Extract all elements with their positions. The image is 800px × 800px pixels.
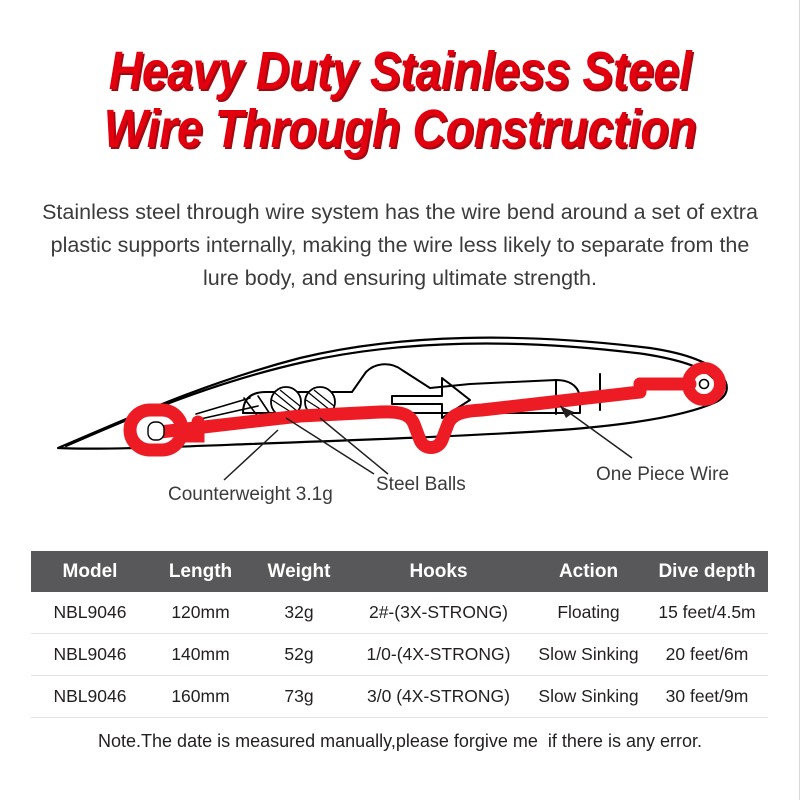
measurement-note: Note.The date is measured manually,pleas…: [0, 731, 800, 752]
cell-model: NBL9046: [31, 592, 149, 634]
table-header-row: Model Length Weight Hooks Action Dive de…: [31, 551, 768, 592]
cell-dive-depth: 15 feet/4.5m: [646, 592, 768, 634]
nose-eyelet-ring: [688, 368, 720, 400]
cell-length: 120mm: [149, 592, 252, 634]
through-wire: [160, 384, 690, 448]
callout-label-steel-balls: Steel Balls: [376, 474, 466, 496]
headline-line-2: Wire Through Construction: [56, 102, 744, 156]
cell-dive-depth: 30 feet/9m: [646, 676, 768, 718]
cell-model: NBL9046: [31, 634, 149, 676]
cell-action: Floating: [531, 592, 646, 634]
cell-hooks: 3/0 (4X-STRONG): [346, 676, 531, 718]
cell-length: 140mm: [149, 634, 252, 676]
cell-weight: 52g: [252, 634, 346, 676]
product-infographic: { "headline": { "line1": "Heavy Duty Sta…: [0, 0, 800, 800]
page-title: Heavy Duty Stainless Steel Wire Through …: [0, 44, 800, 156]
cell-hooks: 1/0-(4X-STRONG): [346, 634, 531, 676]
cell-hooks: 2#-(3X-STRONG): [346, 592, 531, 634]
cell-weight: 32g: [252, 592, 346, 634]
cell-dive-depth: 20 feet/6m: [646, 634, 768, 676]
column-header-action: Action: [531, 551, 646, 592]
cell-model: NBL9046: [31, 676, 149, 718]
cell-length: 160mm: [149, 676, 252, 718]
leader-counterweight: [224, 430, 278, 480]
column-header-length: Length: [149, 551, 252, 592]
headline-line-1: Heavy Duty Stainless Steel: [56, 44, 744, 98]
column-header-model: Model: [31, 551, 149, 592]
specification-table: Model Length Weight Hooks Action Dive de…: [31, 551, 768, 718]
table-row: NBL9046 120mm 32g 2#-(3X-STRONG) Floatin…: [31, 592, 768, 634]
callout-label-counterweight: Counterweight 3.1g: [168, 484, 333, 506]
cell-weight: 73g: [252, 676, 346, 718]
table-row: NBL9046 140mm 52g 1/0-(4X-STRONG) Slow S…: [31, 634, 768, 676]
intro-paragraph: Stainless steel through wire system has …: [34, 196, 766, 295]
lure-cutaway-diagram: [0, 318, 800, 538]
cell-action: Slow Sinking: [531, 634, 646, 676]
column-header-weight: Weight: [252, 551, 346, 592]
table-row: NBL9046 160mm 73g 3/0 (4X-STRONG) Slow S…: [31, 676, 768, 718]
callout-label-one-piece-wire: One Piece Wire: [596, 464, 729, 486]
cell-action: Slow Sinking: [531, 676, 646, 718]
column-header-dive-depth: Dive depth: [646, 551, 768, 592]
column-header-hooks: Hooks: [346, 551, 531, 592]
